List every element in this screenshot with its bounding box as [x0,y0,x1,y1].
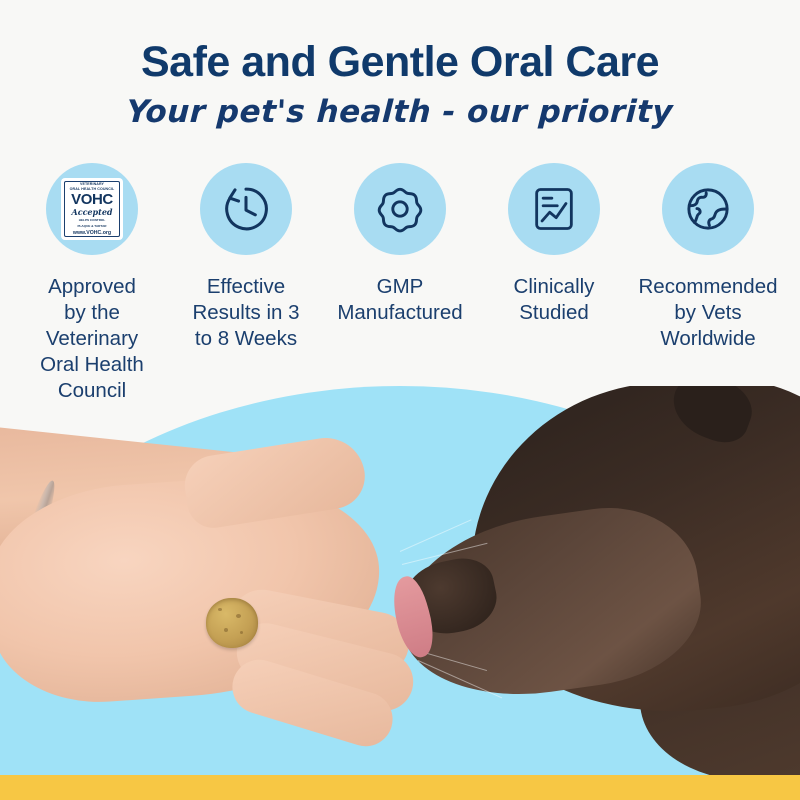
vohc-seal-sub-line-2: PLAQUE & TARTAR [77,224,106,228]
photo-content [0,386,800,775]
vohc-seal-main: VOHC [71,192,113,207]
treat-speck [236,614,241,618]
badge-label: Approved by the Veterinary Oral Health C… [40,274,144,404]
treat-speck [224,628,228,632]
vohc-seal-accepted: Accepted [71,208,112,216]
badge-vohc-approved: VETERINARY ORAL HEALTH COUNCIL VOHC Acce… [36,163,148,404]
product-photo [0,386,800,775]
globe-icon [681,182,735,236]
page-title: Safe and Gentle Oral Care [0,0,800,85]
badge-label: GMP Manufactured [337,274,462,326]
badge-circle [200,163,292,255]
header: Safe and Gentle Oral Care Your pet's hea… [0,0,800,129]
badge-clinically-studied: Clinically Studied [498,163,610,404]
vohc-seal-icon: VETERINARY ORAL HEALTH COUNCIL VOHC Acce… [61,178,123,240]
footer-accent-bar [0,775,800,800]
badge-circle [354,163,446,255]
gear-icon [373,182,427,236]
badge-circle [508,163,600,255]
clock-arrow-icon [218,181,274,237]
badge-gmp-manufactured: GMP Manufactured [344,163,456,404]
vohc-seal-sub-line-1: HELPS CONTROL [79,218,105,222]
badge-effective-results: Effective Results in 3 to 8 Weeks [190,163,302,404]
badge-circle [662,163,754,255]
treat-speck [240,631,243,634]
badge-label: Recommended by Vets Worldwide [639,274,778,352]
treat-speck [218,608,222,611]
badge-label: Clinically Studied [514,274,595,326]
infographic-page: Safe and Gentle Oral Care Your pet's hea… [0,0,800,800]
trust-badge-row: VETERINARY ORAL HEALTH COUNCIL VOHC Acce… [0,163,800,404]
dental-chew-treat [206,598,258,648]
badge-label: Effective Results in 3 to 8 Weeks [192,274,299,352]
vohc-seal-url: www.VOHC.org [73,231,111,236]
chart-report-icon [528,183,580,235]
page-subtitle: Your pet's health - our priority [0,85,800,129]
badge-circle: VETERINARY ORAL HEALTH COUNCIL VOHC Acce… [46,163,138,255]
badge-recommended-by-vets: Recommended by Vets Worldwide [652,163,764,404]
